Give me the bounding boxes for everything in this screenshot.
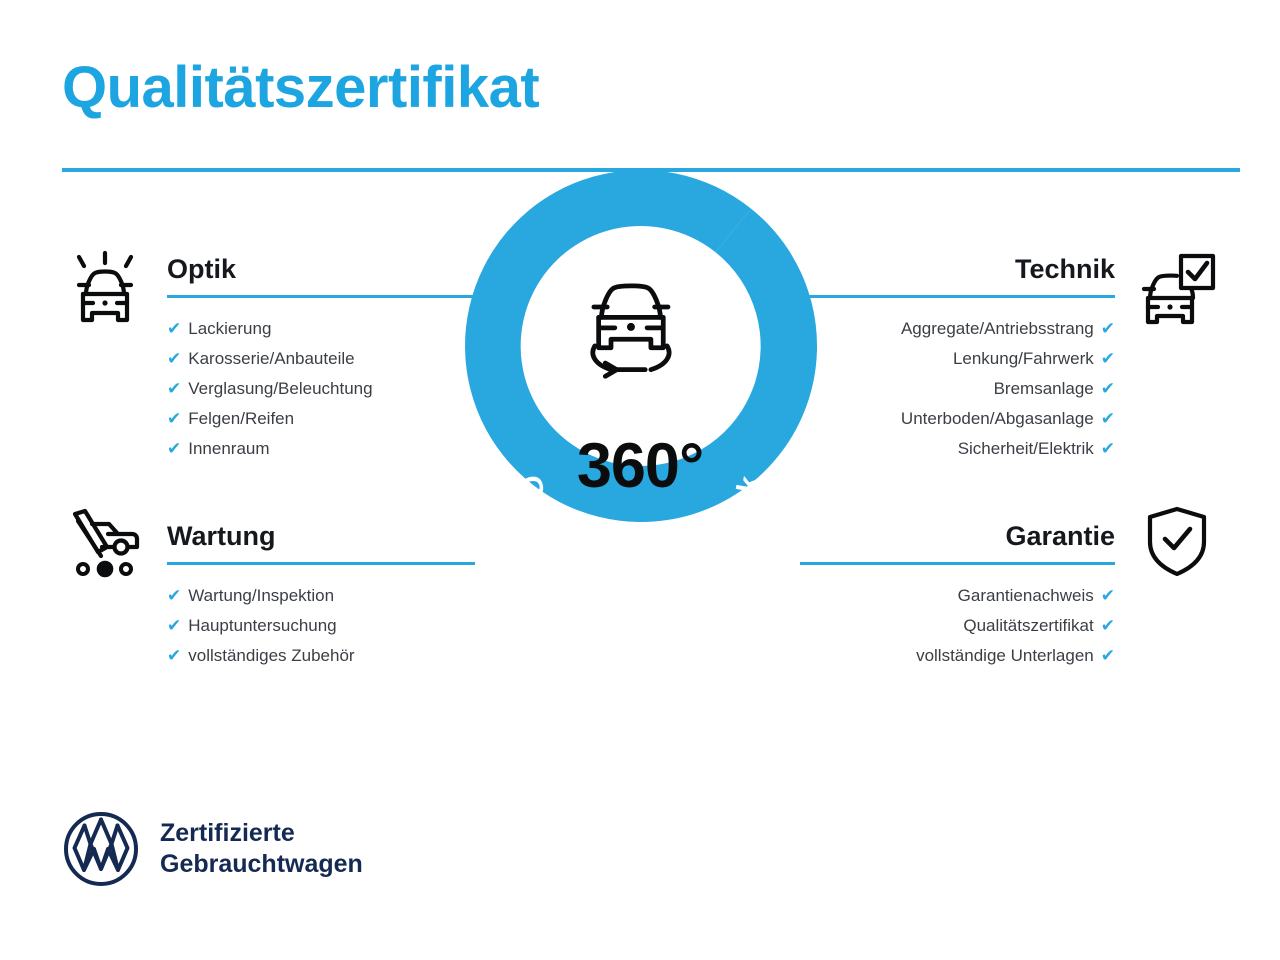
check-icon: ✔ [167,439,181,458]
check-icon: ✔ [167,379,181,398]
list-item-label: Lenkung/Fahrwerk [953,349,1094,368]
list-item-label: Wartung/Inspektion [188,586,334,605]
check-icon: ✔ [167,646,181,665]
section-title: Garantie [790,517,1115,555]
list-item: ✔Karosserie/Anbauteile [167,344,492,374]
list-item-label: Aggregate/Antriebsstrang [901,319,1094,338]
certificate-page: Qualitätszertifikat [0,0,1280,960]
car-rotate-icon [593,286,669,376]
vw-lockup-text: Zertifizierte Gebrauchtwagen [160,818,363,880]
check-icon: ✔ [1101,646,1115,665]
list-item-label: Felgen/Reifen [188,409,294,428]
list-item-label: Qualitätszertifikat [963,616,1093,635]
list-item-label: Hauptuntersuchung [188,616,336,635]
list-item: ✔Hauptuntersuchung [167,611,492,641]
section-technik-list: Aggregate/Antriebsstrang✔ Lenkung/Fahrwe… [790,314,1115,464]
list-item: ✔Lackierung [167,314,492,344]
section-underline [167,295,475,298]
vw-lockup-line1: Zertifizierte [160,818,363,849]
check-icon: ✔ [167,349,181,368]
list-item: ✔Innenraum [167,434,492,464]
check-icon: ✔ [1101,586,1115,605]
list-item-label: Verglasung/Beleuchtung [188,379,372,398]
list-item-label: Unterboden/Abgasanlage [901,409,1094,428]
list-item: ✔vollständiges Zubehör [167,641,492,671]
gebrauchtwagen-check-badge: Gebrauchtwagen-Check 360° [468,262,812,626]
section-technik: Technik Aggregate/Antriebsstrang✔ Lenkun… [790,250,1220,464]
list-item-label: Lackierung [188,319,271,338]
section-technik-head: Technik [790,250,1220,300]
page-title: Qualitätszertifikat [62,56,539,120]
list-item-label: vollständige Unterlagen [916,646,1094,665]
section-optik-list: ✔Lackierung ✔Karosserie/Anbauteile ✔Verg… [167,314,492,464]
list-item-label: Karosserie/Anbauteile [188,349,354,368]
list-item: vollständige Unterlagen✔ [790,641,1115,671]
check-icon: ✔ [167,586,181,605]
section-garantie: Garantie Garantienachweis✔ Qualitätszert… [790,517,1220,671]
section-garantie-head: Garantie [790,517,1220,567]
list-item-label: Innenraum [188,439,269,458]
section-title: Technik [790,250,1115,288]
list-item-label: Garantienachweis [958,586,1094,605]
badge-center-text: 360° [468,430,812,502]
check-icon: ✔ [1101,439,1115,458]
list-item: Aggregate/Antriebsstrang✔ [790,314,1115,344]
section-garantie-list: Garantienachweis✔ Qualitätszertifikat✔ v… [790,581,1115,671]
list-item: Qualitätszertifikat✔ [790,611,1115,641]
list-item: Bremsanlage✔ [790,374,1115,404]
vw-lockup: Zertifizierte Gebrauchtwagen [62,810,363,888]
list-item: ✔Wartung/Inspektion [167,581,492,611]
list-item: Lenkung/Fahrwerk✔ [790,344,1115,374]
list-item: Garantienachweis✔ [790,581,1115,611]
volkswagen-logo [62,810,140,888]
check-icon: ✔ [1101,349,1115,368]
section-optik: Optik ✔Lackierung ✔Karosserie/Anbauteile… [62,250,492,464]
section-title: Optik [167,250,492,288]
list-item-label: Sicherheit/Elektrik [958,439,1094,458]
check-icon: ✔ [167,319,181,338]
list-item: Sicherheit/Elektrik✔ [790,434,1115,464]
vw-lockup-line2: Gebrauchtwagen [160,849,363,880]
section-wartung-head: Wartung [62,517,492,567]
section-underline [800,562,1115,565]
left-column: Optik ✔Lackierung ✔Karosserie/Anbauteile… [62,250,492,671]
right-column: Technik Aggregate/Antriebsstrang✔ Lenkun… [790,250,1220,671]
list-item: Unterboden/Abgasanlage✔ [790,404,1115,434]
check-icon: ✔ [1101,616,1115,635]
section-optik-head: Optik [62,250,492,300]
check-icon: ✔ [1101,379,1115,398]
list-item-label: Bremsanlage [994,379,1094,398]
check-icon: ✔ [167,616,181,635]
list-item: ✔Verglasung/Beleuchtung [167,374,492,404]
check-icon: ✔ [1101,319,1115,338]
section-underline [800,295,1115,298]
section-underline [167,562,475,565]
section-wartung-list: ✔Wartung/Inspektion ✔Hauptuntersuchung ✔… [167,581,492,671]
list-item-label: vollständiges Zubehör [188,646,354,665]
section-wartung: Wartung ✔Wartung/Inspektion ✔Hauptunters… [62,517,492,671]
check-icon: ✔ [167,409,181,428]
check-icon: ✔ [1101,409,1115,428]
section-title: Wartung [167,517,492,555]
list-item: ✔Felgen/Reifen [167,404,492,434]
